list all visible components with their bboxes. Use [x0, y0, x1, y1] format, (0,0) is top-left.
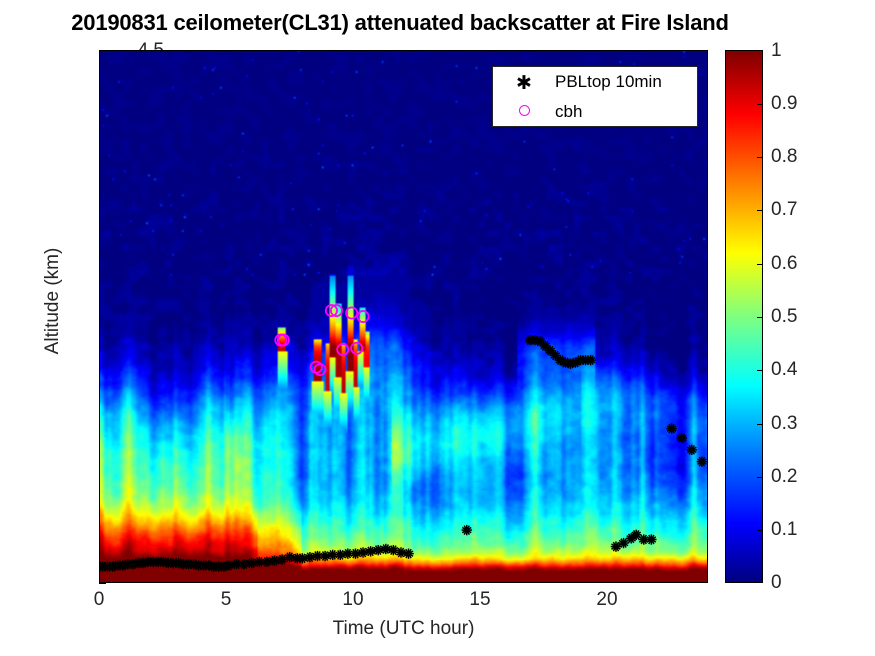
colorbar-tickmark — [757, 530, 763, 531]
backscatter-heatmap — [100, 51, 707, 582]
colorbar-tickmark — [757, 157, 763, 158]
legend-label: cbh — [555, 102, 582, 122]
figure: 20190831 ceilometer(CL31) attenuated bac… — [0, 0, 875, 656]
colorbar-tick-label: 1 — [771, 40, 782, 62]
x-tick-label: 5 — [221, 589, 232, 611]
asterisk-icon: ✱ — [493, 73, 555, 92]
colorbar-tickmark — [757, 370, 763, 371]
colorbar-tickmark — [757, 104, 763, 105]
circle-icon — [493, 104, 555, 120]
x-tick-label: 0 — [94, 589, 105, 611]
x-tick-label: 10 — [342, 589, 363, 611]
colorbar-tick-label: 0.6 — [771, 253, 797, 275]
colorbar-tickmark — [757, 477, 763, 478]
colorbar-tick-label: 0.5 — [771, 306, 797, 328]
x-tick-label: 15 — [469, 589, 490, 611]
colorbar-tick-label: 0.4 — [771, 359, 797, 381]
colorbar-tick-label: 0.3 — [771, 413, 797, 435]
colorbar-tick-label: 0.1 — [771, 519, 797, 541]
colorbar-tickmark — [757, 424, 763, 425]
legend-item-cbh: cbh — [493, 97, 697, 127]
legend-item-pbltop: ✱ PBLtop 10min — [493, 67, 697, 97]
colorbar-tick-label: 0.9 — [771, 93, 797, 115]
y-axis-label: Altitude (km) — [42, 211, 64, 391]
colorbar-tick-label: 0 — [771, 572, 782, 594]
colorbar-tickmark — [757, 210, 763, 211]
colorbar-tick-label: 0.8 — [771, 146, 797, 168]
x-tick-label: 20 — [596, 589, 617, 611]
y-tickmark — [99, 583, 106, 584]
legend-label: PBLtop 10min — [555, 72, 662, 92]
colorbar-tick-label: 0.7 — [771, 199, 797, 221]
colorbar-tick-label: 0.2 — [771, 466, 797, 488]
colorbar-tickmark — [757, 317, 763, 318]
plot-area — [99, 50, 708, 583]
legend: ✱ PBLtop 10min cbh — [492, 66, 698, 127]
x-axis-label: Time (UTC hour) — [99, 618, 708, 640]
colorbar-tickmark — [757, 264, 763, 265]
chart-title: 20190831 ceilometer(CL31) attenuated bac… — [0, 10, 800, 36]
